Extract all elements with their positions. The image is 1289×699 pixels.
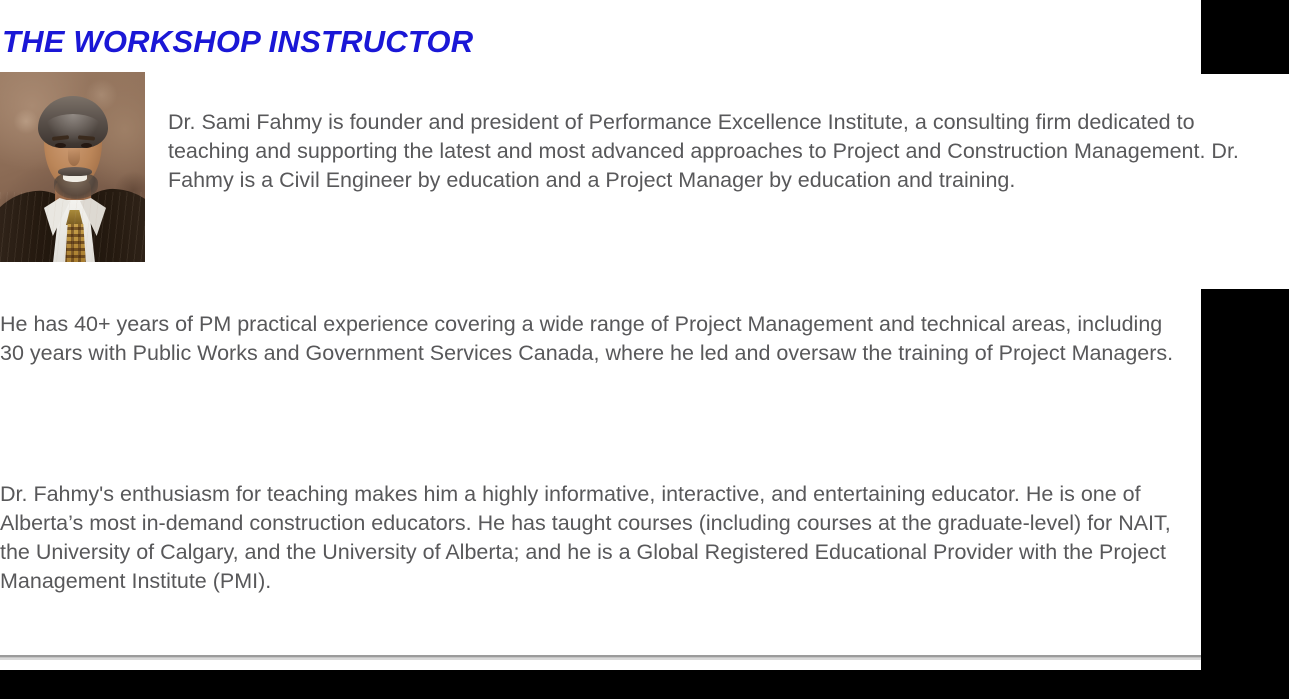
portrait-mouth <box>63 175 87 182</box>
instructor-portrait-photo <box>0 72 145 262</box>
occlusion-block-right <box>1201 289 1289 699</box>
portrait-nose <box>68 148 80 166</box>
portrait-eye-right <box>81 143 92 148</box>
occlusion-block-bottom <box>0 670 1289 699</box>
section-divider <box>0 655 1201 660</box>
portrait-suit-pinstripes <box>0 192 145 262</box>
page-title: THE WORKSHOP INSTRUCTOR <box>2 23 1182 61</box>
portrait-eye-left <box>55 143 66 148</box>
slide-canvas: THE WORKSHOP INSTRUCTOR Dr. Sami Fahmy i… <box>0 0 1289 699</box>
occlusion-block-top-right <box>1201 0 1289 74</box>
teaching-paragraph: Dr. Fahmy's enthusiasm for teaching make… <box>0 480 1195 596</box>
intro-paragraph: Dr. Sami Fahmy is founder and president … <box>168 108 1264 195</box>
experience-paragraph: He has 40+ years of PM practical experie… <box>0 310 1175 368</box>
portrait-mustache <box>58 167 92 176</box>
